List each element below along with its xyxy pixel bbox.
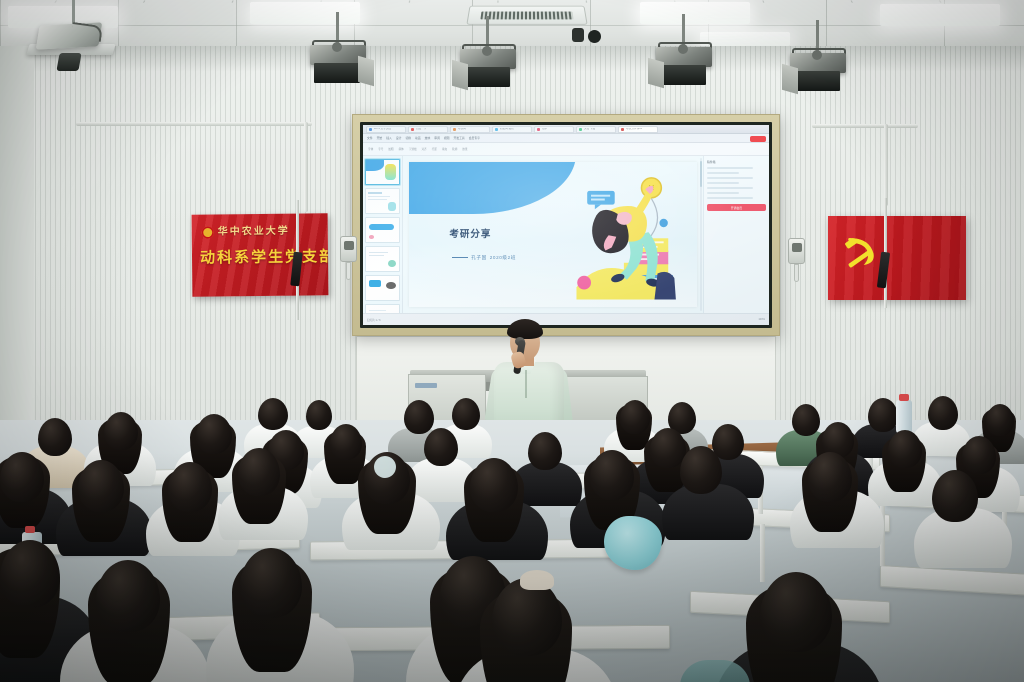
student-head <box>792 404 820 436</box>
ribbon-menu: 文件 开始 插入 设计 切换 动画 放映 审阅 视图 开发工具 会员专享 <box>363 134 769 143</box>
ribbon-item-slideshow[interactable]: 放映 <box>425 136 431 140</box>
browser-tab[interactable]: WPS 文字文档 <box>366 126 406 133</box>
right-side-panel[interactable]: 稿件箱 开通会员 <box>703 156 769 313</box>
tab-label: 文档 下载 <box>584 128 595 131</box>
student-head <box>620 400 650 434</box>
screen-bezel: WPS 文字文档 百度一下 考研网 研招网 报名 <box>360 122 772 328</box>
slide-counter: 幻灯片 1 / 6 <box>367 318 381 322</box>
wall-speaker <box>340 236 357 262</box>
student-head <box>590 450 634 500</box>
student-head <box>760 572 832 652</box>
panel-divider <box>707 167 753 169</box>
wall-speaker-stem <box>794 264 799 282</box>
student-head <box>78 460 124 512</box>
presenter-hair <box>507 319 543 339</box>
party-branch-banner: 华中农业大学 动科系学生党支部 <box>192 213 329 296</box>
ribbon-item-home[interactable]: 开始 <box>377 136 383 140</box>
tab-favicon <box>453 128 456 131</box>
student-head <box>240 548 302 618</box>
student-head <box>680 446 722 494</box>
cpc-party-flag <box>828 216 966 300</box>
toolbar-bold[interactable]: 加粗 <box>388 147 393 151</box>
ribbon-item-review[interactable]: 审阅 <box>434 136 440 140</box>
ribbon-item-file[interactable]: 文件 <box>367 136 373 140</box>
student-head <box>104 412 138 450</box>
subtitle-author: 孔子国 <box>471 255 487 261</box>
toolbar-align[interactable]: 对齐 <box>422 147 427 151</box>
student-head <box>196 414 232 454</box>
security-camera <box>572 28 584 42</box>
ceiling-light-panel <box>880 4 1000 26</box>
browser-tab[interactable]: 知乎 <box>534 126 574 133</box>
browser-tab[interactable]: 研招网 报名 <box>492 126 532 133</box>
student-head <box>528 432 562 470</box>
wall-pipe-vertical <box>304 122 308 212</box>
bottle-cap <box>899 394 909 401</box>
wall-pipe <box>812 124 918 128</box>
student-head <box>238 448 280 496</box>
hammer-sickle-svg <box>842 232 882 270</box>
toolbar-italic[interactable]: 斜体 <box>399 147 404 151</box>
slide-title: 考研分享 <box>449 230 491 240</box>
student-head <box>932 470 978 522</box>
stage-light-housing <box>314 63 360 83</box>
toolbar-fontsize[interactable]: 字号 <box>378 147 383 151</box>
slide-thumbnail[interactable] <box>365 217 400 243</box>
slide-thumbnail[interactable] <box>365 188 400 214</box>
student-head <box>306 400 332 430</box>
zoom-level[interactable]: 100% <box>758 318 765 321</box>
plastic-bag <box>604 516 662 570</box>
student-head <box>404 400 434 434</box>
stage-light-knob <box>678 44 688 54</box>
tab-label: 研招网 报名 <box>500 128 514 131</box>
panel-field-row[interactable] <box>707 182 739 184</box>
subtitle-class: 2020级2班 <box>490 255 516 261</box>
student-head <box>0 540 60 608</box>
formatting-toolbar: 字体 字号 加粗 斜体 下划线 对齐 行距 填充 轮廓 效果 <box>363 143 769 156</box>
browser-tab[interactable]: 考研网 <box>450 126 490 133</box>
upgrade-membership-button[interactable]: 开通会员 <box>707 204 766 211</box>
tab-favicon <box>369 128 372 131</box>
stage-light-knob <box>812 50 822 60</box>
presenter-shirt-placket <box>525 370 527 398</box>
hair-scrunchie <box>374 456 396 478</box>
student-head <box>168 462 212 512</box>
stage-light-knob <box>332 42 342 52</box>
browser-tab-active[interactable]: 考研分享.pptx <box>618 126 658 133</box>
toolbar-outline[interactable]: 轮廓 <box>452 147 457 151</box>
ribbon-item-animation[interactable]: 动画 <box>415 136 421 140</box>
slide-thumbnail[interactable] <box>365 159 400 185</box>
security-camera-dome <box>588 30 601 43</box>
stage-light <box>788 20 848 94</box>
ribbon-item-insert[interactable]: 插入 <box>386 136 392 140</box>
slide-thumbnail[interactable] <box>365 246 400 272</box>
student-head <box>424 428 458 466</box>
student-head <box>258 398 288 430</box>
login-button[interactable] <box>750 136 766 142</box>
student-head <box>330 424 362 460</box>
student-head <box>868 398 898 432</box>
student-head <box>928 396 958 430</box>
student-head <box>38 418 72 456</box>
slide-thumbnail[interactable] <box>365 275 400 301</box>
student-head <box>962 436 996 474</box>
ribbon-item-member[interactable]: 会员专享 <box>469 136 480 140</box>
tab-label: 考研网 <box>458 128 466 131</box>
slide-thumbnail[interactable] <box>365 304 400 313</box>
wall-pipe-vertical <box>884 124 888 206</box>
panel-header: 稿件箱 <box>707 160 766 164</box>
water-bottle <box>896 400 912 434</box>
stage-light-housing <box>464 67 510 87</box>
stage-light <box>654 14 714 88</box>
tab-favicon <box>537 128 540 131</box>
toolbar-fill[interactable]: 填充 <box>442 147 447 151</box>
student-head <box>96 560 160 632</box>
projection-screen-frame: WPS 文字文档 百度一下 考研网 研招网 报名 <box>352 114 780 336</box>
panel-field-row[interactable] <box>707 187 753 189</box>
stage-light-housing <box>660 65 706 85</box>
student-head <box>808 452 852 502</box>
panel-field-row[interactable] <box>707 172 739 174</box>
stage-light-knob <box>482 46 492 56</box>
stage-light-barndoor <box>648 58 664 89</box>
toolbar-linespacing[interactable]: 行距 <box>432 147 437 151</box>
stage-light <box>308 12 368 86</box>
tab-label: 百度一下 <box>416 128 426 131</box>
ribbon-item-devtools[interactable]: 开发工具 <box>453 136 464 140</box>
panel-field-row[interactable] <box>707 192 739 194</box>
tab-label: 考研分享.pptx <box>626 128 642 131</box>
browser-tab[interactable]: 文档 下载 <box>576 126 616 133</box>
toolbar-underline[interactable]: 下划线 <box>409 147 417 151</box>
student-head <box>986 404 1014 436</box>
current-slide: 考研分享 孔子国 2020级2班 <box>409 162 697 306</box>
stage-light-barndoor <box>452 60 468 91</box>
browser-tab-bar: WPS 文字文档 百度一下 考研网 研招网 报名 <box>363 125 769 134</box>
lectern-panel <box>415 383 437 388</box>
projector-lens <box>56 53 81 71</box>
stage-light <box>458 16 518 90</box>
panel-field-row[interactable] <box>707 177 753 179</box>
vertical-scrollbar-thumb[interactable] <box>700 161 702 187</box>
ceiling-projector <box>28 22 114 60</box>
tab-favicon <box>579 128 582 131</box>
desk-leg <box>760 524 765 582</box>
stage-light-barndoor <box>358 56 374 87</box>
tab-favicon <box>621 128 624 131</box>
tab-favicon <box>495 128 498 131</box>
slide-editing-area[interactable]: 考研分享 孔子国 2020级2班 <box>403 156 703 313</box>
student-head <box>452 398 480 430</box>
lecture-hall-photo: WPS 文字文档 百度一下 考研网 研招网 报名 <box>0 0 1024 682</box>
hair-clip <box>520 570 554 590</box>
student-head <box>0 452 44 502</box>
toolbar-font[interactable]: 字体 <box>368 147 373 151</box>
toolbar-effects[interactable]: 效果 <box>462 147 467 151</box>
tab-label: WPS 文字文档 <box>374 128 391 131</box>
subtitle-dash <box>452 257 468 258</box>
panel-field-row[interactable] <box>707 197 753 199</box>
browser-tab[interactable]: 百度一下 <box>408 126 448 133</box>
banner-organization-text: 华中农业大学 <box>218 226 290 239</box>
ribbon-item-transition[interactable]: 切换 <box>405 136 411 140</box>
student-head <box>888 430 922 468</box>
slide-subtitle: 孔子国 2020级2班 <box>452 255 516 261</box>
illustration-svg: ¥ <box>559 171 686 301</box>
wall-pipe <box>76 122 312 126</box>
ribbon-item-view[interactable]: 视图 <box>444 136 450 140</box>
stage-light-housing <box>794 71 840 91</box>
tab-favicon <box>411 128 414 131</box>
bottle-cap <box>25 526 35 533</box>
hammer-and-sickle-icon <box>842 232 882 270</box>
stage-light-barndoor <box>782 64 798 95</box>
student-head <box>470 458 518 512</box>
tab-label: 知乎 <box>542 128 547 131</box>
wps-presentation-app: WPS 文字文档 百度一下 考研网 研招网 报名 <box>363 125 769 325</box>
wall-speaker <box>788 238 805 264</box>
wall-speaker-stem <box>346 262 351 280</box>
university-logo-icon <box>202 226 214 238</box>
slide-thumbnail-panel[interactable] <box>363 156 403 313</box>
ribbon-item-design[interactable]: 设计 <box>396 136 402 140</box>
wall-left-return <box>0 46 34 466</box>
projection-screen: WPS 文字文档 百度一下 考研网 研招网 报名 <box>363 125 769 325</box>
slide-illustration: ¥ <box>559 171 686 301</box>
